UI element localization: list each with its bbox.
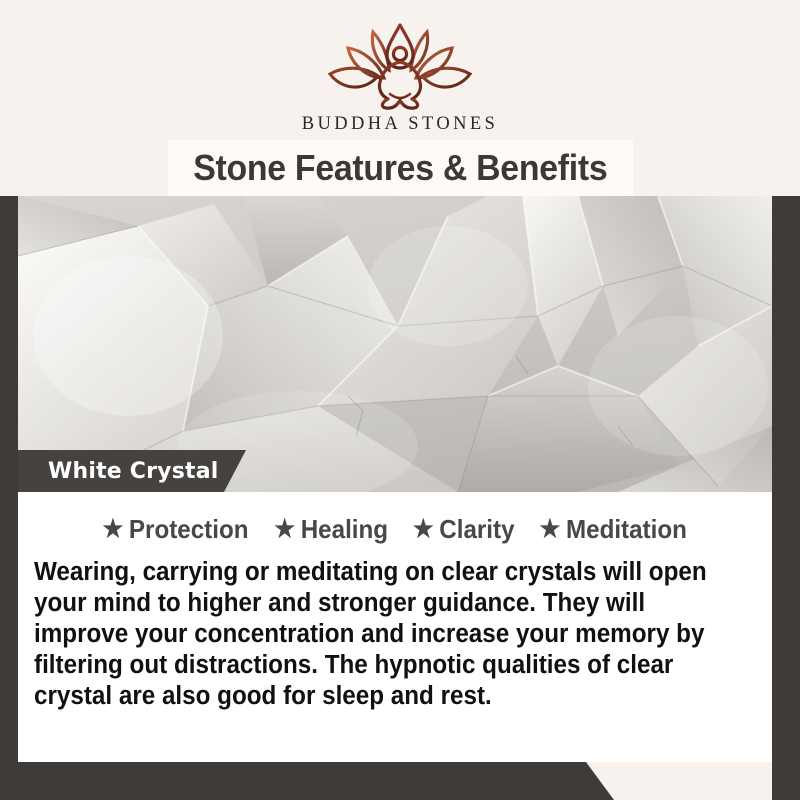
poster-root: BUDDHA STONES Stone Features & Benefits xyxy=(0,0,800,800)
page-title: Stone Features & Benefits xyxy=(193,147,607,189)
benefit-label: Healing xyxy=(301,514,388,545)
benefit-label: Meditation xyxy=(566,514,687,545)
stone-name-label: White Crystal xyxy=(48,459,219,484)
benefit-item: ★ Protection xyxy=(103,514,249,545)
benefits-row: ★ Protection ★ Healing ★ Clarity ★ Medit… xyxy=(18,492,772,545)
content-panel: ★ Protection ★ Healing ★ Clarity ★ Medit… xyxy=(18,492,772,762)
star-icon: ★ xyxy=(275,517,296,542)
benefit-label: Clarity xyxy=(439,514,514,545)
frame-band-left xyxy=(0,196,18,800)
lotus-meditation-figure-icon xyxy=(324,22,476,110)
star-icon: ★ xyxy=(540,517,561,542)
star-icon: ★ xyxy=(413,517,434,542)
frame-band-bottom xyxy=(0,762,800,800)
title-banner: Stone Features & Benefits xyxy=(168,140,633,196)
stone-name-tag: White Crystal xyxy=(18,450,246,492)
benefit-item: ★ Clarity xyxy=(413,514,515,545)
stone-photo xyxy=(18,196,772,492)
brand-logo: BUDDHA STONES xyxy=(0,22,800,135)
brand-name: BUDDHA STONES xyxy=(302,114,499,135)
benefit-item: ★ Healing xyxy=(275,514,389,545)
star-icon: ★ xyxy=(103,517,124,542)
benefit-item: ★ Meditation xyxy=(540,514,687,545)
benefit-label: Protection xyxy=(129,514,249,545)
crystal-cluster-image xyxy=(18,196,772,492)
description-text: Wearing, carrying or meditating on clear… xyxy=(34,557,720,712)
